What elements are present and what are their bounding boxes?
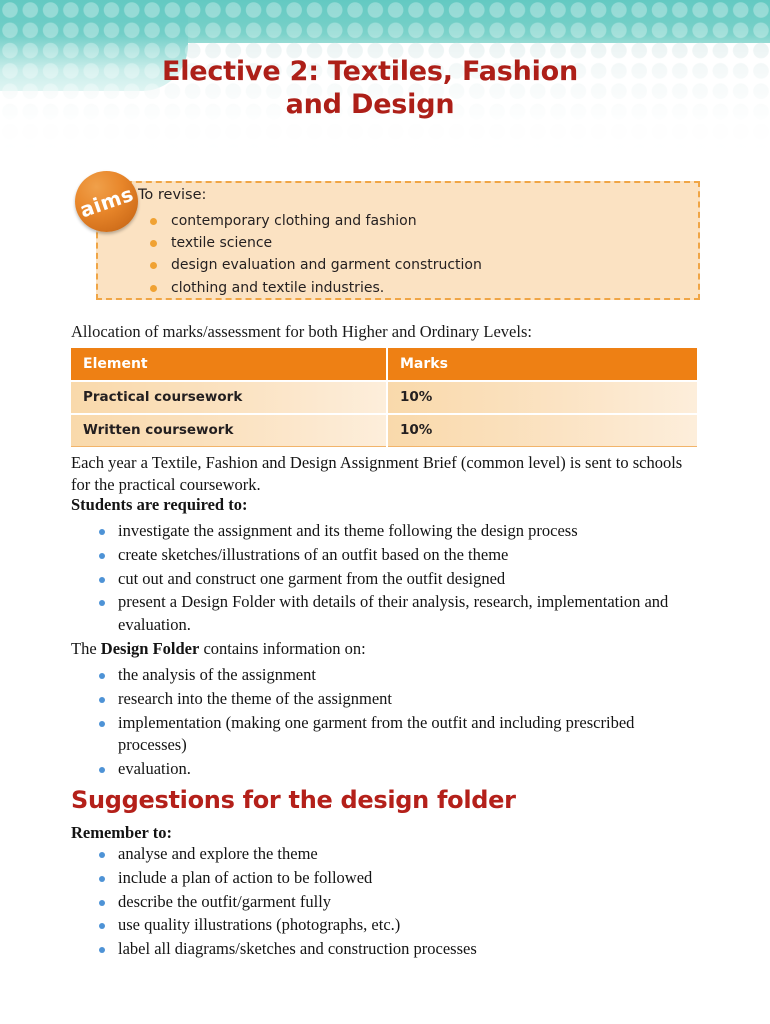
page-title: Elective 2: Textiles, Fashion and Design [0, 55, 740, 121]
bullet-dot-icon [99, 600, 105, 606]
list-item: create sketches/illustrations of an outf… [96, 544, 702, 567]
table-header-marks: Marks [387, 348, 697, 381]
table-row: Practical coursework 10% [71, 381, 697, 414]
bullet-dot-icon [99, 577, 105, 583]
list-item: research into the theme of the assignmen… [96, 688, 702, 711]
bullet-dot-icon [150, 285, 157, 292]
table-header-row: Element Marks [71, 348, 697, 381]
aims-list: contemporary clothing and fashion textil… [148, 210, 482, 299]
bullet-dot-icon [99, 923, 105, 929]
design-folder-heading: The Design Folder contains information o… [71, 638, 701, 660]
list-item-label: investigate the assignment and its theme… [118, 521, 578, 540]
list-item: present a Design Folder with details of … [96, 591, 702, 637]
list-item-label: implementation (making one garment from … [118, 713, 634, 755]
list-item-label: label all diagrams/sketches and construc… [118, 939, 477, 958]
design-folder-heading-suffix: contains information on: [199, 639, 365, 658]
aims-list-item: textile science [148, 232, 482, 254]
aims-list-item: contemporary clothing and fashion [148, 210, 482, 232]
aims-list-item-label: design evaluation and garment constructi… [171, 257, 482, 273]
table-cell-marks: 10% [387, 414, 697, 447]
aims-intro-label: To revise: [138, 187, 206, 203]
list-item: analyse and explore the theme [96, 843, 702, 866]
bullet-dot-icon [99, 947, 105, 953]
suggestions-list: analyse and explore the theme include a … [96, 843, 702, 962]
bullet-dot-icon [150, 218, 157, 225]
table-cell-marks: 10% [387, 381, 697, 414]
intro-paragraph: Each year a Textile, Fashion and Design … [71, 452, 701, 495]
remember-label: Remember to: [71, 822, 701, 844]
bullet-dot-icon [99, 876, 105, 882]
aims-list-item: design evaluation and garment constructi… [148, 254, 482, 276]
list-item: the analysis of the assignment [96, 664, 702, 687]
list-item: investigate the assignment and its theme… [96, 520, 702, 543]
list-item-label: analyse and explore the theme [118, 844, 318, 863]
list-item-label: use quality illustrations (photographs, … [118, 915, 400, 934]
bullet-dot-icon [99, 673, 105, 679]
aims-badge: aims [75, 171, 138, 232]
list-item-label: cut out and construct one garment from t… [118, 569, 505, 588]
list-item: use quality illustrations (photographs, … [96, 914, 702, 937]
allocation-caption: Allocation of marks/assessment for both … [71, 322, 532, 342]
students-required-list: investigate the assignment and its theme… [96, 520, 702, 638]
aims-list-item-label: textile science [171, 235, 272, 251]
list-item: cut out and construct one garment from t… [96, 568, 702, 591]
bullet-dot-icon [99, 553, 105, 559]
bullet-dot-icon [99, 900, 105, 906]
bullet-dot-icon [99, 697, 105, 703]
list-item: describe the outfit/garment fully [96, 891, 702, 914]
bullet-dot-icon [150, 240, 157, 247]
bullet-dot-icon [99, 767, 105, 773]
list-item: label all diagrams/sketches and construc… [96, 938, 702, 961]
table-header-element: Element [71, 348, 387, 381]
list-item-label: include a plan of action to be followed [118, 868, 372, 887]
marks-allocation-table: Element Marks Practical coursework 10% W… [71, 348, 697, 447]
bullet-dot-icon [99, 529, 105, 535]
students-required-heading: Students are required to: [71, 494, 701, 516]
design-folder-list: the analysis of the assignment research … [96, 664, 702, 782]
design-folder-heading-bold: Design Folder [101, 639, 200, 658]
list-item: evaluation. [96, 758, 702, 781]
table-cell-element: Practical coursework [71, 381, 387, 414]
list-item-label: research into the theme of the assignmen… [118, 689, 392, 708]
bullet-dot-icon [150, 262, 157, 269]
table-row: Written coursework 10% [71, 414, 697, 447]
list-item-label: create sketches/illustrations of an outf… [118, 545, 508, 564]
list-item-label: describe the outfit/garment fully [118, 892, 331, 911]
suggestions-heading: Suggestions for the design folder [71, 786, 516, 814]
list-item-label: evaluation. [118, 759, 191, 778]
bullet-dot-icon [99, 721, 105, 727]
aims-list-item-label: clothing and textile industries. [171, 280, 384, 296]
page-title-line-2: and Design [286, 89, 455, 120]
design-folder-heading-prefix: The [71, 639, 101, 658]
bullet-dot-icon [99, 852, 105, 858]
list-item-label: the analysis of the assignment [118, 665, 316, 684]
aims-list-item-label: contemporary clothing and fashion [171, 213, 417, 229]
page-title-line-1: Elective 2: Textiles, Fashion [162, 56, 578, 87]
list-item: include a plan of action to be followed [96, 867, 702, 890]
table-cell-element: Written coursework [71, 414, 387, 447]
list-item-label: present a Design Folder with details of … [118, 592, 668, 634]
aims-list-item: clothing and textile industries. [148, 277, 482, 299]
list-item: implementation (making one garment from … [96, 712, 702, 758]
